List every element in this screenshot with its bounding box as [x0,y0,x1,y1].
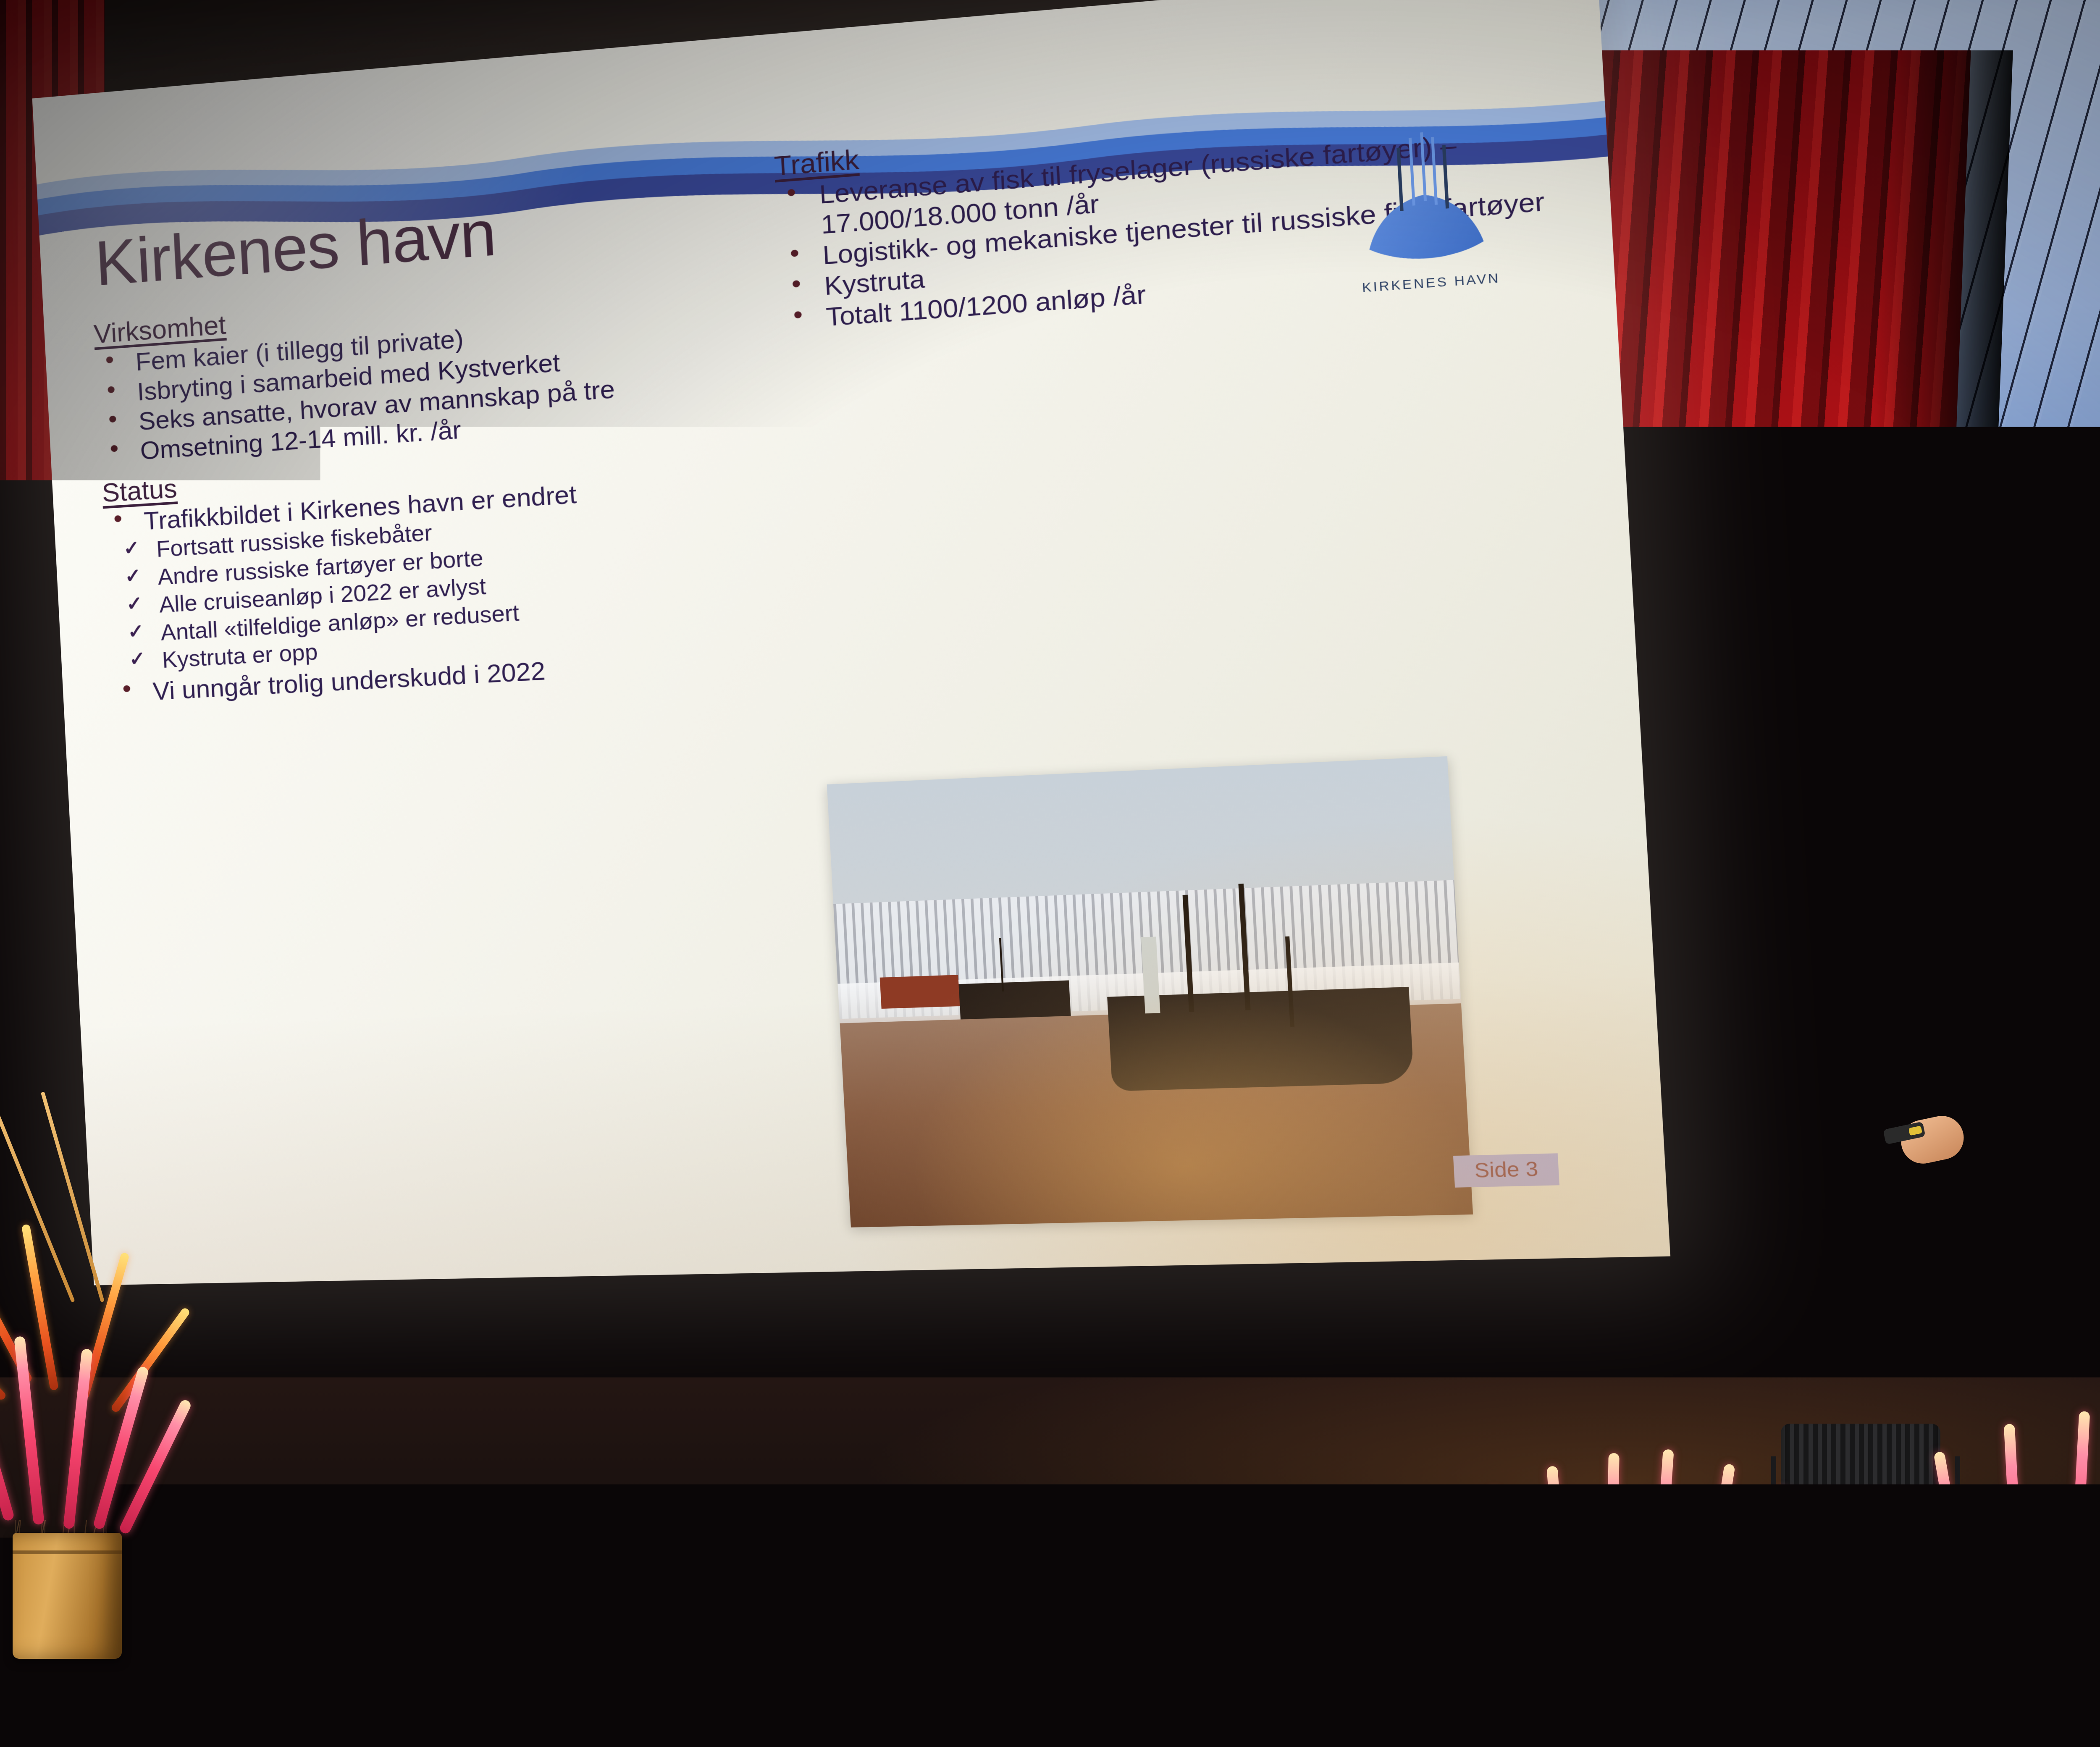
projection-screen: Kirkenes havn Virksomhet Fem kaier (i ti… [32,0,1670,1285]
stage-scene: Kirkenes havn Virksomhet Fem kaier (i ti… [0,0,2100,1747]
page-number-badge: Side 3 [1453,1153,1560,1188]
slide-left-column: Virksomhet Fem kaier (i tillegg til priv… [93,270,792,709]
slide-surface: Kirkenes havn Virksomhet Fem kaier (i ti… [32,0,1670,1285]
name-badge [2037,1008,2098,1084]
heather-bucket-right [1907,1403,2100,1747]
harbour-photo [827,756,1473,1228]
kirkenes-havn-logo-icon [1347,121,1501,281]
heather-bucket-left [0,1335,164,1747]
eyeglasses-icon [2012,793,2084,815]
heather-bucket-center [1436,1436,1974,1747]
